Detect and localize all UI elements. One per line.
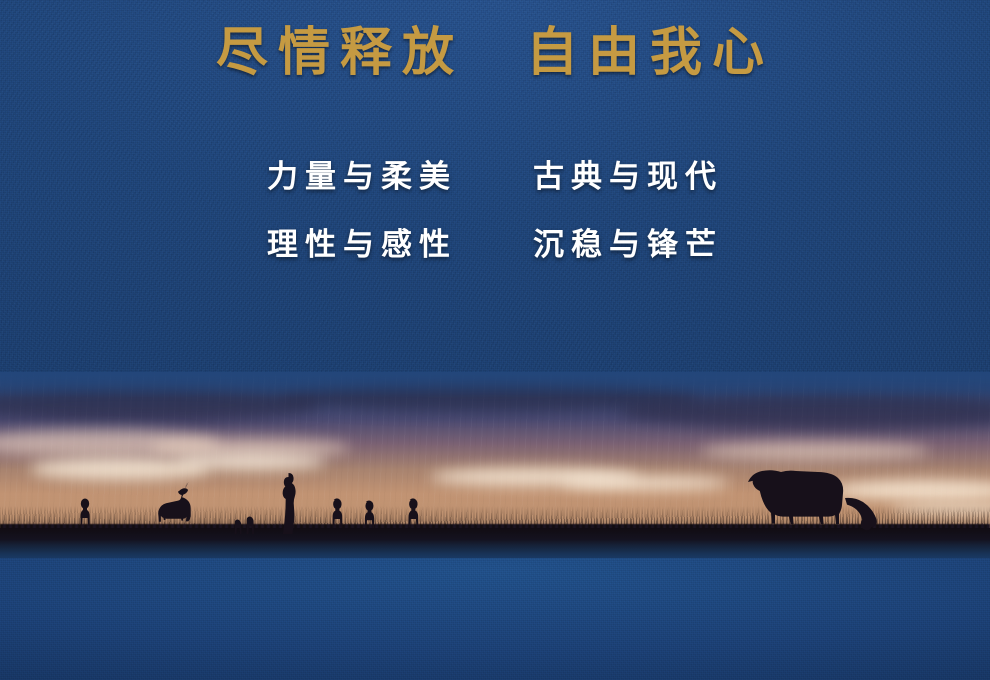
antelope-front-center-a-silhouette: [324, 492, 350, 534]
poster-canvas: 尽情释放 自由我心 力量与柔美 古典与现代 理性与感性 沉稳与锋芒: [0, 0, 990, 680]
page-title: 尽情释放 自由我心: [0, 22, 990, 84]
antelope-front-center-b-silhouette: [356, 494, 382, 534]
antelope-front-center-c-silhouette: [400, 492, 426, 534]
standing-figure-silhouette: [276, 472, 300, 534]
antelope-profile-left-silhouette: [138, 482, 200, 534]
antelope-small-front-left-silhouette: [72, 492, 98, 534]
bottom-noise-layer: [0, 558, 990, 680]
subtitle-line-1: 力量与柔美 古典与现代: [0, 158, 990, 196]
savanna-photo-band: [0, 372, 990, 560]
lion-silhouette: [712, 468, 888, 534]
cub-pair-silhouette: [232, 512, 258, 534]
subtitle-line-2: 理性与感性 沉稳与锋芒: [0, 226, 990, 264]
